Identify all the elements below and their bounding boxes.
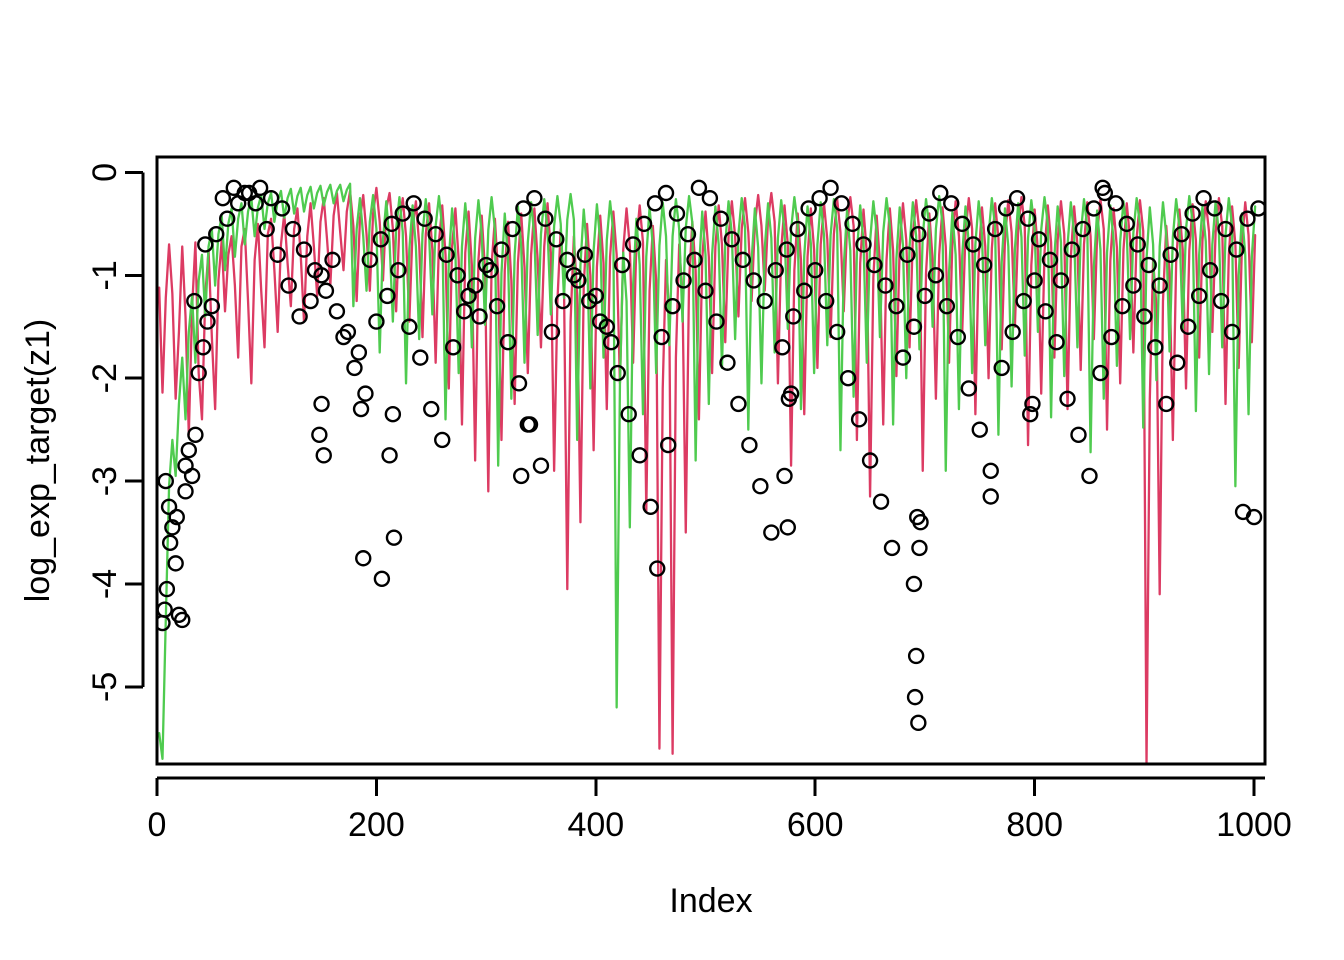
y-tick-label: 0 [86, 163, 124, 182]
y-tick-label: -3 [86, 466, 124, 496]
x-tick-label: 400 [567, 806, 624, 844]
chart-svg: 02004006008001000 0-1-2-3-4-5 Index log_… [0, 0, 1344, 960]
plot-canvas: 02004006008001000 0-1-2-3-4-5 Index log_… [0, 0, 1344, 960]
y-tick-label: -5 [86, 672, 124, 702]
x-axis-title: Index [669, 882, 752, 920]
x-tick-label: 800 [1006, 806, 1063, 844]
y-tick-label: -1 [86, 260, 124, 290]
x-tick-label: 600 [787, 806, 844, 844]
x-tick-label: 200 [348, 806, 405, 844]
y-tick-label: -4 [86, 569, 124, 599]
y-tick-label: -2 [86, 363, 124, 393]
chart-background [0, 0, 1344, 960]
y-axis-title: log_exp_target(z1) [19, 319, 57, 603]
x-tick-label: 1000 [1216, 806, 1292, 844]
x-tick-label: 0 [148, 806, 167, 844]
